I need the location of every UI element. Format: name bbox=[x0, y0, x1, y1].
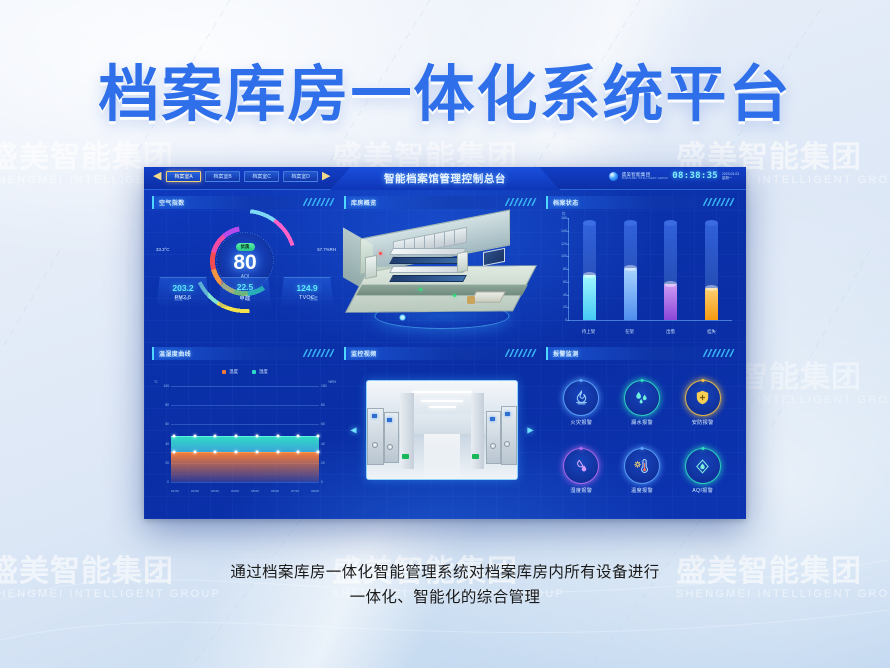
aqi-quality-badge: 优质 bbox=[236, 243, 255, 251]
y-tick: 60 bbox=[563, 280, 567, 284]
bar-value bbox=[705, 288, 718, 320]
y-tick-right: 0 bbox=[321, 480, 323, 484]
alarm-fire-label: 火灾报警 bbox=[570, 419, 592, 426]
x-tick: 08:00 bbox=[311, 489, 319, 493]
data-point bbox=[193, 451, 196, 454]
tabs-next-icon[interactable]: ▶ bbox=[322, 170, 331, 183]
warehouse-wall-monitor bbox=[483, 248, 505, 266]
warehouse-status-dot-icon bbox=[453, 294, 456, 297]
metric-pm25: 203.2 PM2.5 bbox=[157, 277, 210, 307]
alarm-fire-circle bbox=[564, 381, 598, 415]
data-point bbox=[255, 434, 258, 437]
aqi-value: 80 bbox=[233, 252, 256, 273]
x-label: 在架 bbox=[617, 329, 643, 335]
y-tick-right: 60 bbox=[321, 422, 325, 426]
video-prev-icon[interactable]: ◀ bbox=[348, 425, 359, 436]
alarm-water-circle bbox=[625, 381, 659, 415]
tab-room-b[interactable]: 档案室B bbox=[205, 171, 240, 182]
alarm-humidity-circle bbox=[564, 449, 598, 483]
panel-alarm-monitor: 报警监测 火灾报警 bbox=[546, 347, 738, 512]
water-icon bbox=[633, 389, 650, 406]
data-point bbox=[214, 434, 217, 437]
x-tick: 01:00 bbox=[171, 489, 179, 493]
warehouse-shelf-block bbox=[391, 248, 467, 284]
metric-tvoc: 124.9 TVOC bbox=[281, 277, 334, 307]
series-area-temperature bbox=[171, 452, 319, 482]
y-tick-right: 80 bbox=[321, 403, 325, 407]
temp-plot-area: 100 80 60 40 20 0 100 80 60 40 20 0 bbox=[171, 386, 319, 482]
x-tick: 03:00 bbox=[211, 489, 219, 493]
x-label: 出借 bbox=[658, 329, 684, 335]
panel-body-air: 优质 80 AQI 33.3°C 57.7%RH 温度-20 湿度 203.2 … bbox=[152, 209, 338, 309]
panel-video-surveillance: 监控视频 ◀ bbox=[344, 347, 540, 512]
chart-plot-area: 160 140 120 100 80 60 40 20 0 bbox=[568, 218, 732, 321]
dashboard-title-banner: 智能档案馆管理控制总台 bbox=[330, 167, 560, 190]
exit-sign-icon bbox=[402, 454, 409, 459]
brand-name-en: SHENGMEI INTELLIGENT GROUP bbox=[622, 177, 669, 180]
room-tab-bar: ◀ 档案室A 档案室B 档案室C 档案室D ▶ bbox=[153, 170, 331, 183]
data-point bbox=[276, 451, 279, 454]
warehouse-cabinet bbox=[365, 255, 377, 279]
x-label: 待上架 bbox=[576, 329, 602, 335]
alarm-temperature[interactable]: 温度报警 bbox=[613, 439, 672, 506]
clock-weekday: 星期一 bbox=[722, 176, 739, 180]
y-tick-left: 0 bbox=[167, 480, 169, 484]
warehouse-3d-stage[interactable] bbox=[344, 209, 540, 337]
y-tick: 20 bbox=[563, 305, 567, 309]
panel-title-air: 空气指数 bbox=[159, 198, 185, 207]
tab-room-c[interactable]: 档案室C bbox=[244, 171, 279, 182]
bar-value bbox=[664, 284, 677, 320]
y-tick-left: 60 bbox=[165, 422, 169, 426]
grid-line bbox=[171, 386, 319, 387]
warehouse-chair bbox=[467, 296, 475, 304]
alarm-water-leak[interactable]: 漏水报警 bbox=[613, 370, 672, 437]
panel-air-quality: 空气指数 优质 80 AQI 33.3°C 57.7%RH 温度-20 bbox=[152, 196, 338, 341]
alarm-humidity[interactable]: 湿度报警 bbox=[552, 439, 611, 506]
shield-icon bbox=[694, 389, 711, 406]
panel-title-temp: 温湿度曲线 bbox=[159, 349, 191, 358]
warehouse-alarm-dot-icon bbox=[379, 252, 382, 255]
bar-column[interactable] bbox=[705, 218, 718, 320]
cabinet-screen-icon bbox=[505, 412, 510, 416]
y-tick-right: 100 bbox=[321, 384, 327, 388]
y-tick-left: 80 bbox=[165, 403, 169, 407]
header-right-cluster: 盛美智能集团 SHENGMEI INTELLIGENT GROUP 08:38:… bbox=[609, 171, 739, 181]
data-point bbox=[193, 434, 196, 437]
y-tick: 100 bbox=[561, 254, 567, 258]
shelf-row bbox=[389, 248, 467, 255]
metric-formaldehyde-value: 22.5 bbox=[237, 283, 254, 292]
alarm-aqi[interactable]: AQI报警 bbox=[673, 439, 732, 506]
bar-column[interactable] bbox=[583, 218, 596, 320]
metric-tvoc-value: 124.9 bbox=[296, 284, 317, 293]
data-point bbox=[297, 451, 300, 454]
caption-line-1: 通过档案库房一体化智能管理系统对档案库房内所有设备进行 bbox=[0, 560, 890, 585]
grid-line bbox=[171, 405, 319, 406]
tab-room-a[interactable]: 档案室A bbox=[166, 171, 201, 182]
alarm-security-circle bbox=[686, 381, 720, 415]
company-brand: 盛美智能集团 SHENGMEI INTELLIGENT GROUP bbox=[622, 172, 669, 180]
legend-item-temperature[interactable]: 温度 bbox=[222, 369, 238, 375]
gauge-humidity-readout: 57.7%RH bbox=[317, 247, 336, 252]
alarm-humidity-label: 湿度报警 bbox=[570, 487, 592, 494]
y-tick: 40 bbox=[563, 293, 567, 297]
cabinet-screen-icon bbox=[372, 414, 377, 418]
alarm-aqi-label: AQI报警 bbox=[692, 487, 713, 494]
cabinet-wheel-icon bbox=[490, 443, 496, 449]
legend-item-humidity[interactable]: 湿度 bbox=[252, 369, 268, 375]
video-feed[interactable] bbox=[366, 380, 518, 480]
exit-sign-icon bbox=[472, 454, 479, 459]
alarm-temperature-label: 温度报警 bbox=[631, 487, 653, 494]
warehouse-cabinet bbox=[457, 251, 468, 273]
thermo-icon bbox=[633, 458, 650, 475]
data-point bbox=[235, 434, 238, 437]
x-tick: 02:00 bbox=[191, 489, 199, 493]
y-tick-right: 20 bbox=[321, 461, 325, 465]
alarm-security[interactable]: 安防报警 bbox=[673, 370, 732, 437]
chart-bars bbox=[569, 218, 732, 320]
y-tick-left: 20 bbox=[165, 461, 169, 465]
alarm-temperature-circle bbox=[625, 449, 659, 483]
y-tick-left: 40 bbox=[165, 442, 169, 446]
cabinet-screen-icon bbox=[490, 417, 495, 421]
panel-header-warehouse: 库房概览 bbox=[344, 196, 540, 209]
alarm-grid: 火灾报警 漏水报警 bbox=[546, 360, 738, 505]
panel-title-alarm: 报警监测 bbox=[553, 349, 579, 358]
temp-chart-legend: 温度 湿度 bbox=[152, 369, 338, 375]
cabinet-screen-icon bbox=[387, 418, 392, 422]
shelf-row bbox=[389, 257, 467, 264]
video-area: ◀ bbox=[344, 360, 540, 500]
dashboard-header: ◀ 档案室A 档案室B 档案室C 档案室D ▶ 智能档案馆管理控制总台 盛美智能… bbox=[144, 167, 746, 190]
cabinet-wheel-icon bbox=[504, 441, 510, 447]
data-point bbox=[172, 451, 175, 454]
humidity-icon bbox=[573, 458, 590, 475]
axis-unit-left: °C bbox=[154, 380, 158, 384]
warehouse-status-dot-icon bbox=[419, 288, 422, 291]
x-tick: 04:00 bbox=[231, 489, 239, 493]
grid-line bbox=[171, 424, 319, 425]
ceiling-light-icon bbox=[421, 400, 463, 402]
chart-x-labels: 待上架 在架 出借 挂失 bbox=[568, 329, 732, 335]
panel-header-temp: 温湿度曲线 bbox=[152, 347, 338, 360]
alarm-aqi-circle bbox=[686, 449, 720, 483]
panel-title-status: 档案状态 bbox=[553, 198, 579, 207]
x-tick: 06:00 bbox=[271, 489, 279, 493]
metric-pm25-value: 203.2 bbox=[172, 284, 193, 293]
series-area-humidity bbox=[171, 436, 319, 452]
warehouse-desk bbox=[470, 291, 506, 302]
metric-pm25-label: PM2.5 bbox=[175, 295, 192, 301]
bar-value bbox=[583, 275, 596, 320]
data-point bbox=[297, 434, 300, 437]
y-tick-left: 100 bbox=[163, 384, 169, 388]
panel-header-status: 档案状态 bbox=[546, 196, 738, 209]
tabs-prev-icon[interactable]: ◀ bbox=[153, 170, 162, 183]
page-title: 档案库房一体化系统平台 bbox=[0, 44, 890, 133]
clock-date: 2023.04.03 星期一 bbox=[722, 172, 739, 181]
y-tick: 0 bbox=[565, 318, 567, 322]
y-tick: 120 bbox=[561, 242, 567, 246]
archive-status-chart: 件 160 140 120 100 80 60 40 20 0 bbox=[546, 209, 738, 339]
alarm-fire[interactable]: 火灾报警 bbox=[552, 370, 611, 437]
temp-humidity-chart: °C %RH 100 80 60 40 20 0 100 80 bbox=[152, 378, 338, 496]
shelf-row bbox=[389, 266, 467, 273]
video-next-icon[interactable]: ▶ bbox=[525, 425, 536, 436]
y-tick: 140 bbox=[561, 229, 567, 233]
ceiling-light-icon bbox=[429, 406, 456, 408]
legend-label-humidity: 湿度 bbox=[259, 369, 268, 375]
axis-unit-right: %RH bbox=[328, 380, 336, 384]
metric-formaldehyde-label: 甲醛 bbox=[239, 294, 250, 302]
aqi-icon bbox=[694, 458, 711, 475]
data-point bbox=[172, 434, 175, 437]
clock-time: 08:38:35 bbox=[672, 171, 718, 181]
bar-column[interactable] bbox=[624, 218, 637, 320]
x-label: 挂失 bbox=[699, 329, 725, 335]
data-point bbox=[214, 451, 217, 454]
data-point bbox=[235, 451, 238, 454]
panel-temp-humidity: 温湿度曲线 温度 湿度 °C %RH bbox=[152, 347, 338, 512]
bar-value bbox=[624, 268, 637, 320]
y-tick: 80 bbox=[563, 267, 567, 271]
legend-label-temperature: 温度 bbox=[229, 369, 238, 375]
alarm-water-label: 漏水报警 bbox=[631, 419, 653, 426]
data-point bbox=[316, 434, 319, 437]
x-tick: 07:00 bbox=[291, 489, 299, 493]
x-tick: 05:00 bbox=[251, 489, 259, 493]
cabinet-wheel-icon bbox=[387, 444, 393, 450]
bar-column[interactable] bbox=[664, 218, 677, 320]
panel-title-warehouse: 库房概览 bbox=[351, 198, 377, 207]
company-logo-icon bbox=[609, 172, 618, 181]
shelf-row bbox=[389, 275, 467, 282]
page-caption: 通过档案库房一体化智能管理系统对档案库房内所有设备进行 一体化、智能化的综合管理 bbox=[0, 560, 890, 610]
cabinet-wheel-icon bbox=[372, 442, 378, 448]
tab-room-d[interactable]: 档案室D bbox=[283, 171, 318, 182]
caption-line-2: 一体化、智能化的综合管理 bbox=[0, 585, 890, 610]
temp-x-axis: 01:00 02:00 03:00 04:00 05:00 06:00 07:0… bbox=[171, 489, 319, 493]
panel-header-video: 监控视频 bbox=[344, 347, 540, 360]
dashboard-title: 智能档案馆管理控制总台 bbox=[384, 171, 506, 186]
warehouse-model bbox=[357, 222, 527, 332]
gauge-temperature-readout: 33.3°C bbox=[156, 247, 169, 252]
legend-swatch-temperature bbox=[222, 370, 226, 374]
data-point bbox=[316, 451, 319, 454]
legend-swatch-humidity bbox=[252, 370, 256, 374]
metric-formaldehyde: 22.5 甲醛 bbox=[219, 277, 272, 307]
metric-tvoc-label: TVOC bbox=[299, 295, 315, 301]
y-tick-right: 40 bbox=[321, 442, 325, 446]
dashboard-window: ◀ 档案室A 档案室B 档案室C 档案室D ▶ 智能档案馆管理控制总台 盛美智能… bbox=[144, 167, 746, 519]
panel-header-alarm: 报警监测 bbox=[546, 347, 738, 360]
air-metric-list: 203.2 PM2.5 22.5 甲醛 124.9 TVOC bbox=[152, 277, 338, 307]
alarm-security-label: 安防报警 bbox=[692, 419, 714, 426]
grid-line bbox=[171, 482, 319, 483]
panel-title-video: 监控视频 bbox=[351, 349, 377, 358]
y-tick: 160 bbox=[561, 216, 567, 220]
data-point bbox=[255, 451, 258, 454]
panel-archive-status: 档案状态 件 160 140 120 100 80 60 40 20 0 bbox=[546, 196, 738, 341]
fire-icon bbox=[573, 389, 590, 406]
video-ceiling bbox=[367, 381, 517, 414]
panel-body-temp: 温度 湿度 °C %RH 100 80 bbox=[152, 369, 338, 496]
ceiling-light-icon bbox=[412, 391, 472, 393]
panel-warehouse-overview: 库房概览 bbox=[344, 196, 540, 341]
data-point bbox=[276, 434, 279, 437]
